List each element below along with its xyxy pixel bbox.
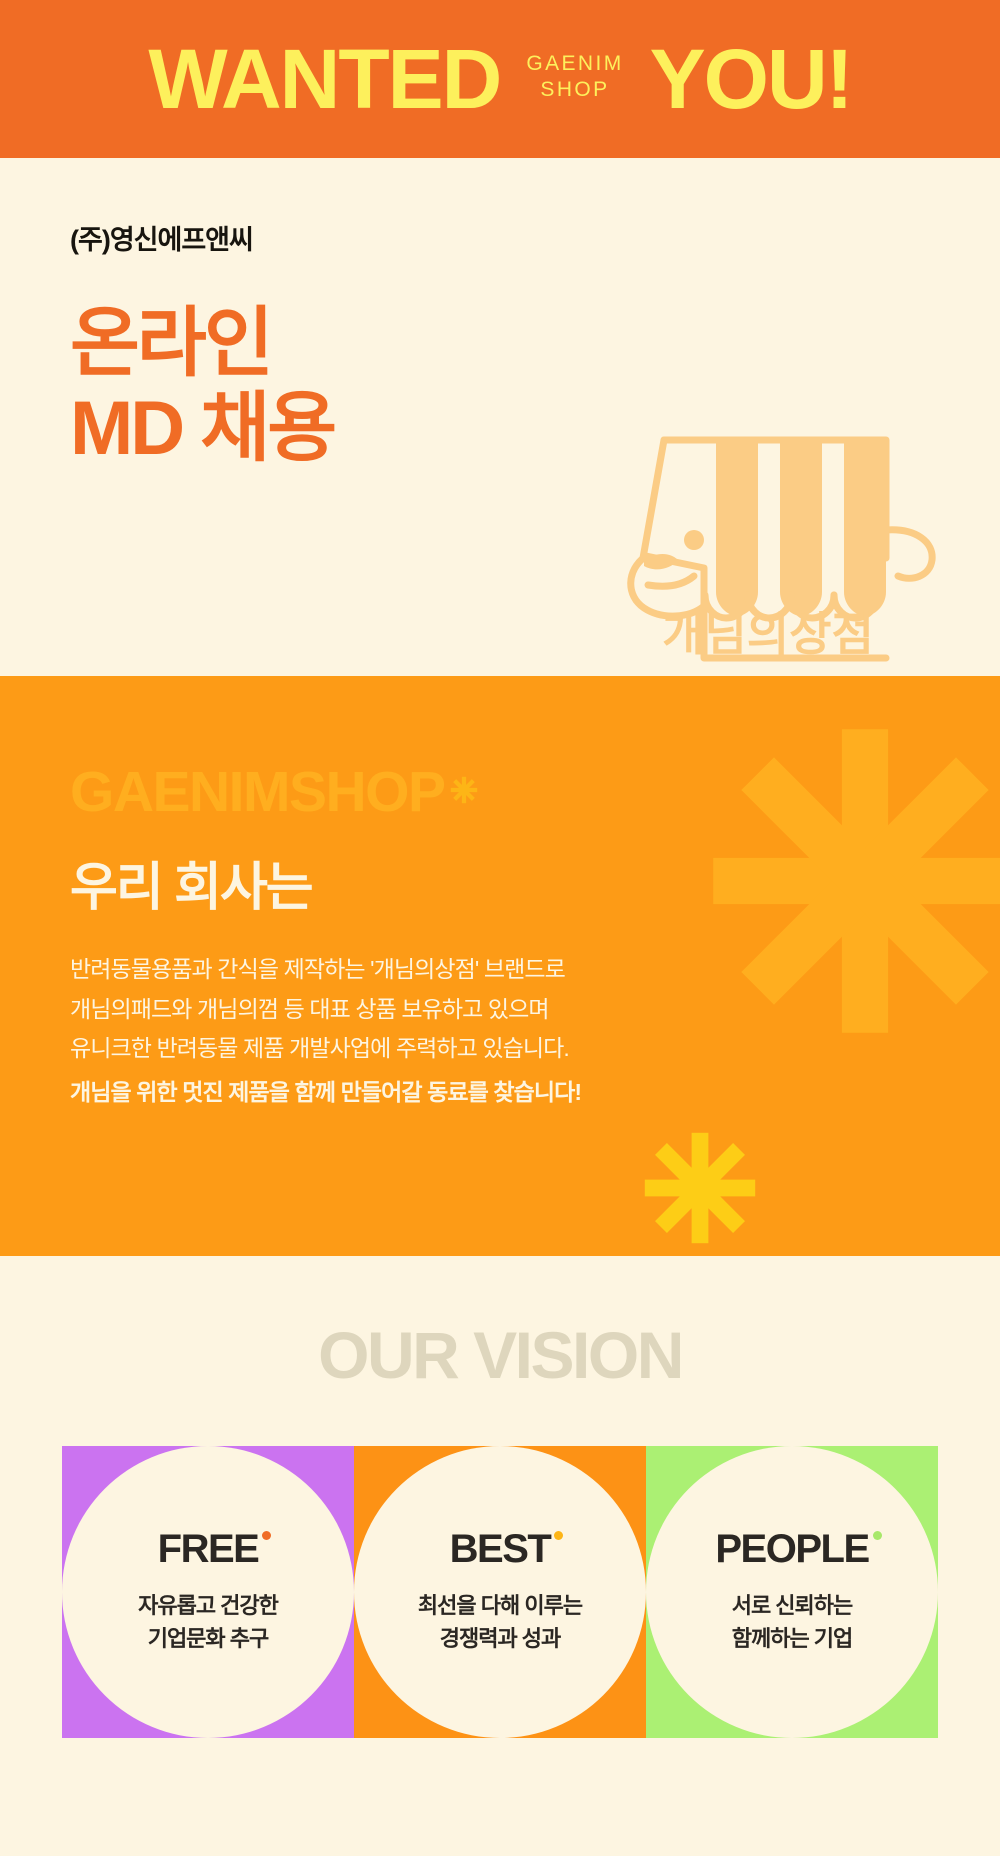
vision-card-label-text: PEOPLE bbox=[715, 1527, 868, 1571]
vision-card-people: PEOPLE 서로 신뢰하는 함께하는 기업 bbox=[646, 1446, 938, 1738]
about-paragraph-3: 유니크한 반려동물 제품 개발사업에 주력하고 있습니다. bbox=[70, 1029, 930, 1069]
header-banner: WANTED GAENIM SHOP YOU! bbox=[0, 0, 1000, 158]
vision-card-description: 자유롭고 건강한 기업문화 추구 bbox=[138, 1589, 278, 1655]
company-name: (주)영신에프앤씨 bbox=[70, 218, 930, 257]
banner-brand-line1: GAENIM bbox=[526, 51, 623, 77]
vision-card-circle: FREE 자유롭고 건강한 기업문화 추구 bbox=[62, 1446, 354, 1738]
vision-card-desc-line2: 함께하는 기업 bbox=[732, 1622, 853, 1655]
starburst-icon-small bbox=[640, 1128, 760, 1248]
about-highlight: 개님을 위한 멋진 제품을 함께 만들어갈 동료를 찾습니다! bbox=[70, 1073, 930, 1113]
vision-cards: FREE 자유롭고 건강한 기업문화 추구 BEST bbox=[62, 1446, 938, 1738]
about-watermark: GAENIMSHOP bbox=[70, 764, 930, 821]
vision-title: OUR VISION bbox=[0, 1322, 1000, 1388]
vision-card-desc-line2: 경쟁력과 성과 bbox=[418, 1622, 582, 1655]
vision-card-circle: PEOPLE 서로 신뢰하는 함께하는 기업 bbox=[646, 1446, 938, 1738]
banner-wanted-text: WANTED bbox=[148, 37, 500, 121]
accent-dot-icon bbox=[262, 1531, 271, 1540]
gaenimshop-logo-icon: 개님의상점 bbox=[586, 410, 946, 670]
vision-card-free: FREE 자유롭고 건강한 기업문화 추구 bbox=[62, 1446, 354, 1738]
about-body: 반려동물용품과 간식을 제작하는 '개님의상점' 브랜드로 개님의패드와 개님의… bbox=[70, 950, 930, 1112]
accent-dot-icon bbox=[873, 1531, 882, 1540]
about-company-section: GAENIMSHOP 우리 회사는 반려동물용품과 간식을 제작하는 '개님의상… bbox=[0, 676, 1000, 1256]
vision-section: OUR VISION FREE 자유롭고 건강한 기업문화 추구 bbox=[0, 1256, 1000, 1856]
about-watermark-text: GAENIMSHOP bbox=[70, 764, 445, 821]
about-paragraph-2: 개님의패드와 개님의껌 등 대표 상품 보유하고 있으며 bbox=[70, 990, 930, 1030]
vision-card-desc-line1: 서로 신뢰하는 bbox=[732, 1589, 853, 1622]
watermark-asterisk-icon bbox=[449, 758, 479, 815]
vision-card-label: PEOPLE bbox=[715, 1529, 868, 1569]
vision-card-circle: BEST 최선을 다해 이루는 경쟁력과 성과 bbox=[354, 1446, 646, 1738]
about-heading: 우리 회사는 bbox=[70, 845, 930, 920]
accent-dot-icon bbox=[554, 1531, 563, 1540]
vision-card-label: BEST bbox=[450, 1529, 551, 1569]
about-paragraph-1: 반려동물용품과 간식을 제작하는 '개님의상점' 브랜드로 bbox=[70, 950, 930, 990]
banner-you-text: YOU! bbox=[650, 37, 852, 121]
vision-card-description: 서로 신뢰하는 함께하는 기업 bbox=[732, 1589, 853, 1655]
vision-card-description: 최선을 다해 이루는 경쟁력과 성과 bbox=[418, 1589, 582, 1655]
vision-card-desc-line2: 기업문화 추구 bbox=[138, 1622, 278, 1655]
recruitment-poster: WANTED GAENIM SHOP YOU! (주)영신에프앤씨 온라인 MD… bbox=[0, 0, 1000, 1856]
vision-card-label-text: FREE bbox=[158, 1527, 259, 1571]
banner-brand-block: GAENIM SHOP bbox=[526, 51, 623, 108]
vision-card-label-text: BEST bbox=[450, 1527, 551, 1571]
vision-card-desc-line1: 최선을 다해 이루는 bbox=[418, 1589, 582, 1622]
job-title-line-1: 온라인 bbox=[70, 301, 930, 386]
banner-brand-line2: SHOP bbox=[540, 77, 609, 103]
vision-card-best: BEST 최선을 다해 이루는 경쟁력과 성과 bbox=[354, 1446, 646, 1738]
vision-card-label: FREE bbox=[158, 1529, 259, 1569]
job-title-section: (주)영신에프앤씨 온라인 MD 채용 bbox=[0, 158, 1000, 676]
vision-card-desc-line1: 자유롭고 건강한 bbox=[138, 1589, 278, 1622]
logo-wordmark: 개님의상점 bbox=[662, 608, 874, 660]
